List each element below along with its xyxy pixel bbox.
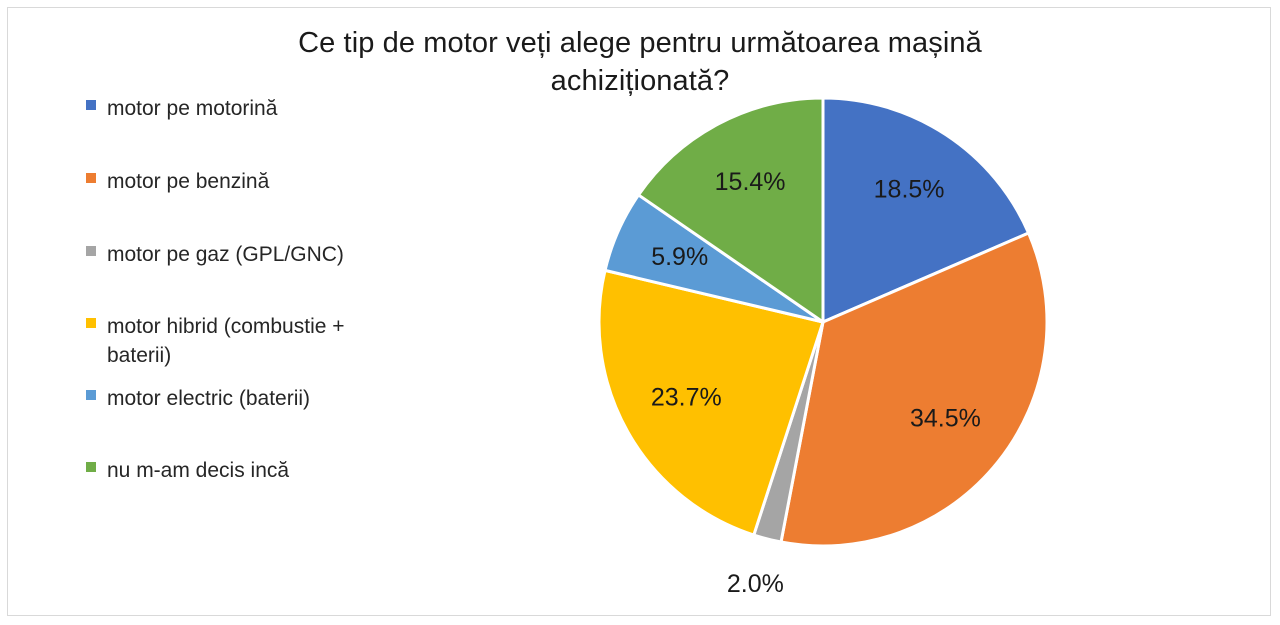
pie-data-label-2: 2.0% (727, 570, 784, 598)
pie-data-label-4: 5.9% (651, 243, 708, 271)
chart-container: Ce tip de motor veți alege pentru următo… (0, 0, 1280, 625)
pie-slices (599, 98, 1047, 546)
pie-svg: 18.5%34.5%2.0%23.7%5.9%15.4% (0, 0, 1280, 625)
pie-chart-plot-area: 18.5%34.5%2.0%23.7%5.9%15.4% (0, 0, 1280, 625)
pie-data-label-0: 18.5% (874, 176, 945, 204)
pie-data-label-1: 34.5% (910, 405, 981, 433)
pie-data-label-5: 15.4% (715, 168, 786, 196)
pie-data-label-3: 23.7% (651, 383, 722, 411)
